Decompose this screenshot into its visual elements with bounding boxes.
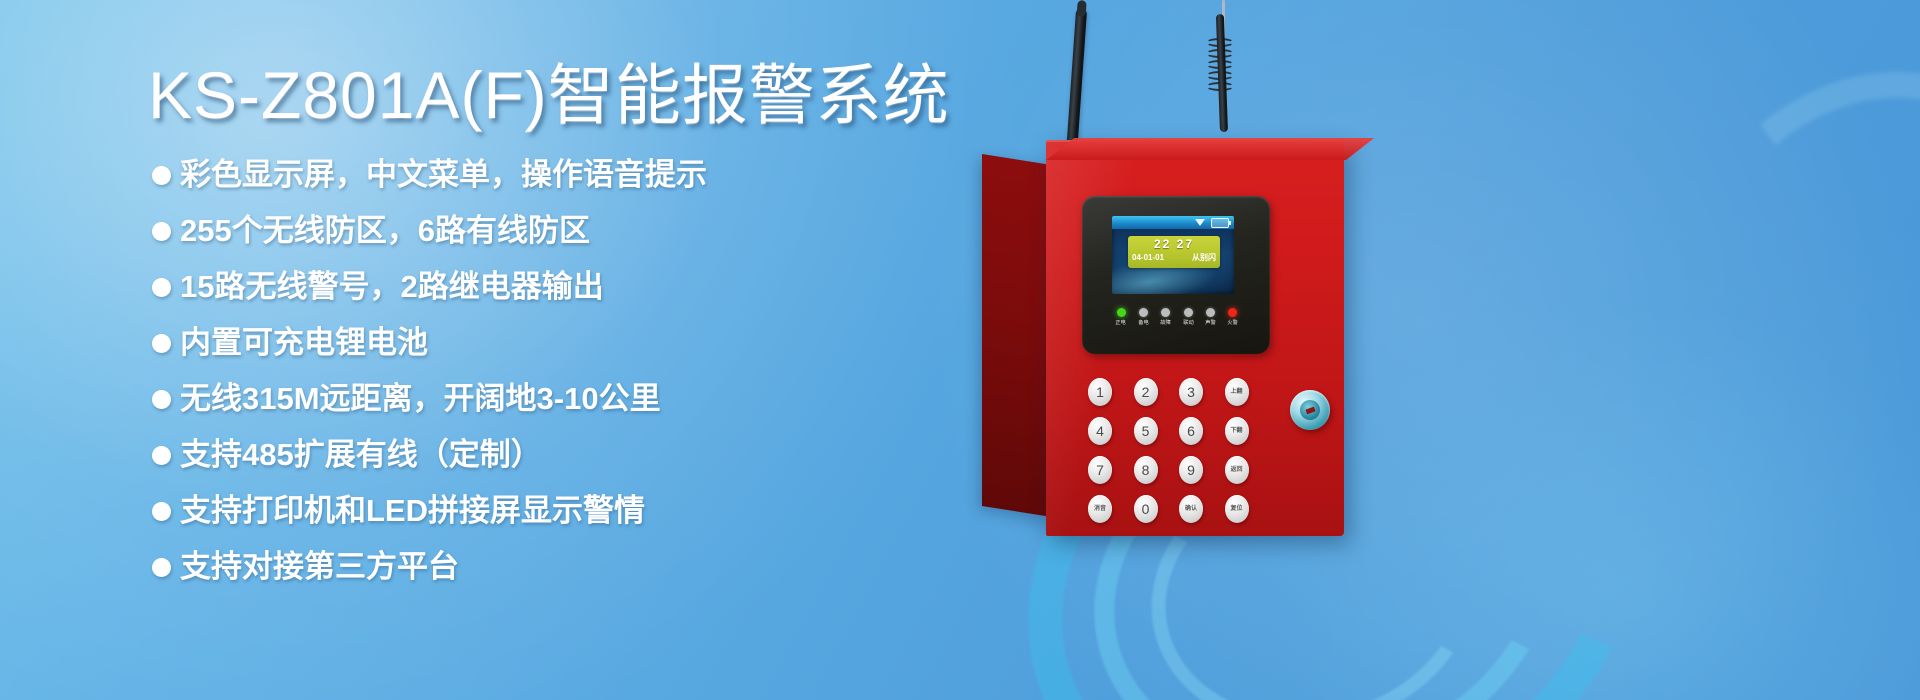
keypad-key-1[interactable]: 1 — [1088, 378, 1112, 406]
keypad-key-7[interactable]: 7 — [1088, 456, 1112, 484]
keypad-key-3[interactable]: 3 — [1179, 378, 1203, 406]
led-label: 联动 — [1183, 320, 1194, 327]
list-item: 255个无线防区，6路有线防区 — [152, 208, 992, 254]
feature-list: 彩色显示屏，中文菜单，操作语音提示 255个无线防区，6路有线防区 15路无线警… — [152, 152, 992, 600]
led-indicator-icon — [1228, 308, 1237, 317]
keypad-key-6[interactable]: 6 — [1179, 417, 1203, 445]
device-cabinet: 22 27 04-01-01 从别闪 正电 — [982, 140, 1352, 540]
status-led-row: 正电 备电 故障 联动 — [1112, 308, 1242, 327]
key-lock-icon[interactable] — [1290, 390, 1330, 430]
keypad-key-back[interactable]: 返回 — [1225, 456, 1249, 484]
signal-icon — [1195, 219, 1205, 226]
lcd-status-text: 从别闪 — [1192, 252, 1216, 263]
keypad-key-confirm[interactable]: 确认 — [1179, 495, 1203, 523]
bullet-icon — [152, 502, 171, 521]
lcd-time: 22 27 — [1128, 236, 1220, 252]
lock-core — [1300, 400, 1320, 420]
status-led-3: 故障 — [1157, 308, 1175, 327]
lcd-screen[interactable]: 22 27 04-01-01 从别闪 — [1112, 216, 1234, 294]
bullet-icon — [152, 166, 171, 185]
status-led-1: 正电 — [1112, 308, 1130, 327]
led-indicator-icon — [1161, 308, 1170, 317]
bullet-icon — [152, 278, 171, 297]
display-bezel: 22 27 04-01-01 从别闪 正电 — [1082, 196, 1270, 354]
keypad-key-mute[interactable]: 消音 — [1088, 495, 1112, 523]
page-title: KS-Z801A(F)智能报警系统 — [148, 56, 950, 134]
lcd-date: 04-01-01 — [1132, 252, 1164, 263]
list-item: 彩色显示屏，中文菜单，操作语音提示 — [152, 152, 992, 198]
led-label: 声警 — [1205, 320, 1216, 327]
led-label: 故障 — [1160, 320, 1171, 327]
led-label: 备电 — [1138, 320, 1149, 327]
feature-text: 255个无线防区，6路有线防区 — [180, 208, 590, 254]
keypad-key-0[interactable]: 0 — [1134, 495, 1158, 523]
bullet-icon — [152, 390, 171, 409]
keypad-key-5[interactable]: 5 — [1134, 417, 1158, 445]
keypad-key-reset[interactable]: 复位 — [1225, 495, 1249, 523]
keypad-key-2[interactable]: 2 — [1134, 378, 1158, 406]
lcd-clock-panel: 22 27 04-01-01 从别闪 — [1128, 236, 1220, 268]
feature-text: 无线315M远距离，开阔地3-10公里 — [180, 376, 661, 422]
antenna-tip — [1077, 0, 1087, 17]
lcd-info-row: 04-01-01 从别闪 — [1128, 252, 1220, 263]
list-item: 无线315M远距离，开阔地3-10公里 — [152, 376, 992, 422]
bullet-icon — [152, 334, 171, 353]
bullet-icon — [152, 558, 171, 577]
keypad-key-9[interactable]: 9 — [1179, 456, 1203, 484]
product-image-alarm-panel: 22 27 04-01-01 从别闪 正电 — [960, 0, 1920, 700]
keypad-key-up[interactable]: 上翻 — [1225, 378, 1249, 406]
led-label: 火警 — [1228, 320, 1239, 327]
status-led-2: 备电 — [1134, 308, 1152, 327]
list-item: 支持打印机和LED拼接屏显示警情 — [152, 488, 992, 534]
led-label: 正电 — [1116, 320, 1127, 327]
feature-text: 支持打印机和LED拼接屏显示警情 — [180, 488, 645, 534]
list-item: 内置可充电锂电池 — [152, 320, 992, 366]
status-led-4: 联动 — [1179, 308, 1197, 327]
battery-icon — [1211, 218, 1229, 228]
status-led-5: 声警 — [1202, 308, 1220, 327]
keypad-key-down[interactable]: 下翻 — [1225, 417, 1249, 445]
cabinet-front-face: 22 27 04-01-01 从别闪 正电 — [1046, 140, 1344, 536]
keypad-key-8[interactable]: 8 — [1134, 456, 1158, 484]
product-banner: KS-Z801A(F)智能报警系统 彩色显示屏，中文菜单，操作语音提示 255个… — [0, 0, 1920, 700]
feature-text: 彩色显示屏，中文菜单，操作语音提示 — [180, 152, 707, 198]
keypad: 1 2 3 上翻 4 5 6 下翻 7 8 9 返回 消音 0 确认 复位 — [1088, 378, 1256, 523]
keypad-key-4[interactable]: 4 — [1088, 417, 1112, 445]
bullet-icon — [152, 446, 171, 465]
list-item: 支持对接第三方平台 — [152, 544, 992, 590]
text-column: KS-Z801A(F)智能报警系统 彩色显示屏，中文菜单，操作语音提示 255个… — [0, 0, 980, 700]
status-led-6: 火警 — [1224, 308, 1242, 327]
feature-text: 内置可充电锂电池 — [180, 320, 428, 366]
bullet-icon — [152, 222, 171, 241]
list-item: 15路无线警号，2路继电器输出 — [152, 264, 992, 310]
led-indicator-icon — [1184, 308, 1193, 317]
cabinet-top-edge — [1046, 138, 1374, 160]
feature-text: 15路无线警号，2路继电器输出 — [180, 264, 604, 310]
led-indicator-icon — [1206, 308, 1215, 317]
list-item: 支持485扩展有线（定制） — [152, 432, 992, 478]
lock-keyhole — [1305, 406, 1315, 414]
feature-text: 支持485扩展有线（定制） — [180, 432, 542, 478]
led-indicator-icon — [1139, 308, 1148, 317]
led-indicator-icon — [1117, 308, 1126, 317]
cabinet-side — [982, 154, 1050, 517]
feature-text: 支持对接第三方平台 — [180, 544, 459, 590]
lcd-status-bar — [1112, 216, 1234, 229]
